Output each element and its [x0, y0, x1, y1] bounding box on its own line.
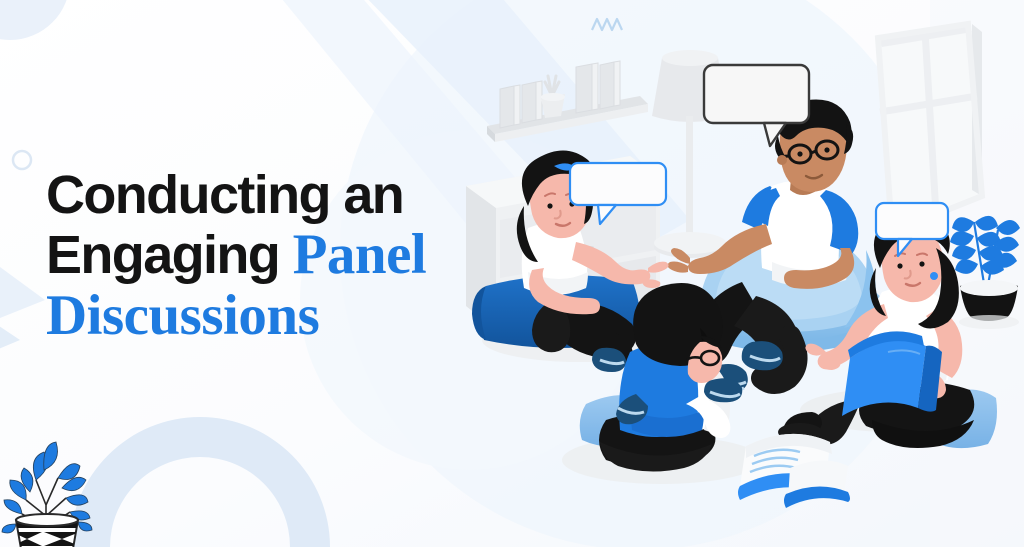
headline-line-1: Conducting an	[46, 168, 516, 223]
headline-line-2-blue: Panel	[293, 223, 427, 286]
headline-line-2-black: Engaging	[46, 225, 293, 285]
banner-hero: Conducting an Engaging Panel Discussions	[0, 0, 1024, 547]
page-title: Conducting an Engaging Panel Discussions	[46, 168, 516, 345]
headline-line-2: Engaging Panel	[46, 226, 516, 284]
headline-line-3: Discussions	[46, 287, 516, 345]
